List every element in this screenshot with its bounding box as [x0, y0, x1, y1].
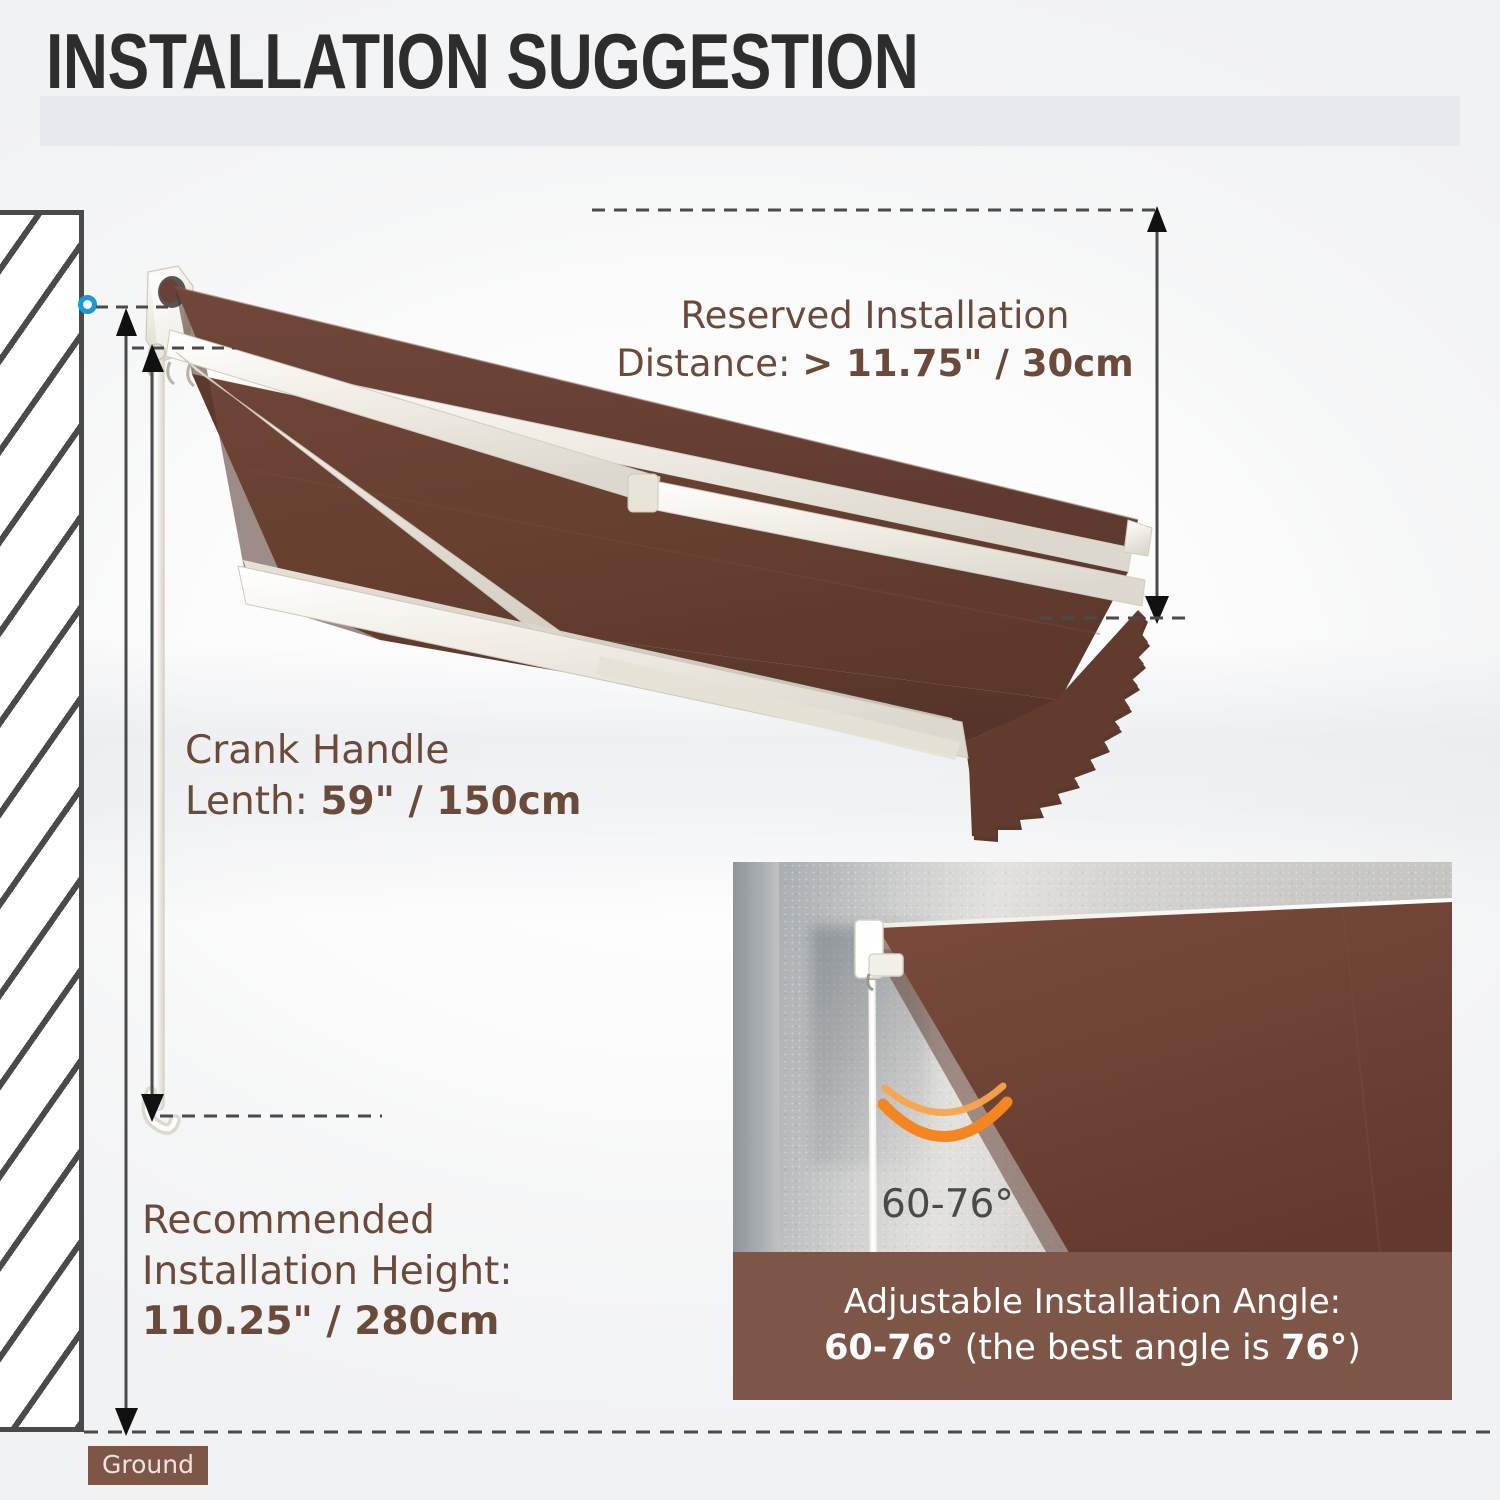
height-line2: Installation Height:: [142, 1249, 512, 1294]
mount-anchor-point-icon: [78, 295, 97, 314]
wall-section: [0, 210, 84, 1432]
angle-caption-bar: Adjustable Installation Angle: 60-76° (t…: [733, 1252, 1452, 1400]
reserved-distance-annotation: Reserved Installation Distance: > 11.75"…: [595, 292, 1155, 388]
crank-line1: Crank Handle: [185, 728, 449, 773]
caption-line1: Adjustable Installation Angle:: [844, 1282, 1341, 1323]
page-title: INSTALLATION SUGGESTION: [46, 22, 918, 100]
crank-line2-label: Lenth:: [185, 779, 320, 824]
caption-best-angle: 76°: [1281, 1328, 1347, 1368]
caption-mid-text: (the best angle is: [954, 1328, 1282, 1368]
height-value: 110.25" / 280cm: [142, 1299, 499, 1344]
crank-line2-value: 59" / 150cm: [320, 779, 581, 824]
installation-height-annotation: Recommended Installation Height: 110.25"…: [142, 1196, 512, 1348]
ground-label: Ground: [88, 1446, 208, 1485]
infographic-root: INSTALLATION SUGGESTION: [0, 0, 1500, 1500]
caption-angle-range: 60-76°: [824, 1328, 953, 1368]
caption-line2: 60-76° (the best angle is 76°): [824, 1327, 1361, 1370]
caption-end-text: ): [1347, 1328, 1361, 1368]
reserved-line2-value: > 11.75" / 30cm: [802, 342, 1133, 385]
crank-handle-annotation: Crank Handle Lenth: 59" / 150cm: [185, 726, 581, 827]
height-line1: Recommended: [142, 1198, 435, 1243]
reserved-line2-label: Distance:: [616, 342, 802, 385]
wall-hatch-pattern: [0, 210, 84, 1432]
angle-range-badge: 60-76°: [881, 1182, 1014, 1227]
reserved-line1: Reserved Installation: [681, 294, 1070, 337]
angle-detail-panel: 60-76° Adjustable Installation Angle: 60…: [733, 862, 1452, 1400]
